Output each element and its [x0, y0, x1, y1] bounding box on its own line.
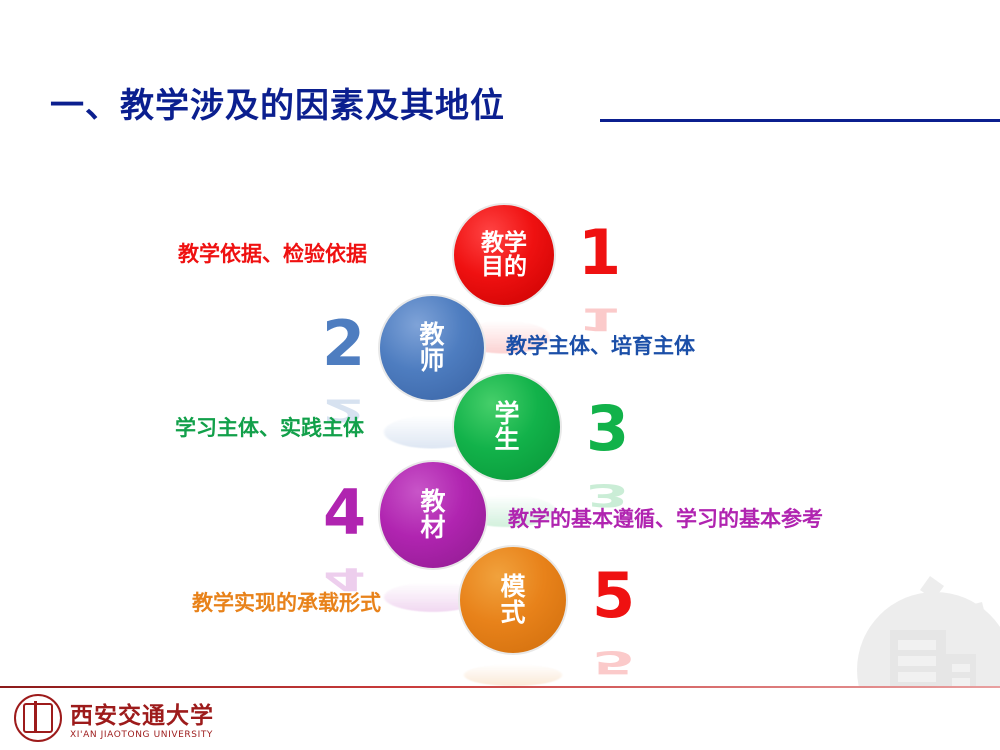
slide: 一、教学涉及的因素及其地位 1 2 3 4 5 1 2 3 4 5 教学 目的 …: [0, 0, 1000, 750]
number-4: 4: [323, 482, 366, 544]
number-5: 5: [592, 565, 635, 627]
bubble-4-line-2: 材: [420, 515, 445, 541]
university-name-en: XI'AN JIAOTONG UNIVERSITY: [70, 730, 214, 740]
bubble-textbook[interactable]: 教 材: [378, 460, 488, 570]
bubble-5-line-2: 式: [500, 600, 525, 626]
bubble-2-line-1: 教: [419, 322, 444, 348]
bubble-3-line-2: 生: [494, 427, 519, 453]
bubble-teaching-purpose[interactable]: 教学 目的: [452, 203, 556, 307]
bubble-1-line-1: 教学: [481, 231, 527, 255]
number-1: 1: [578, 222, 621, 284]
bubble-5-line-1: 模: [500, 574, 525, 600]
number-2: 2: [322, 313, 365, 375]
university-seal-icon: [14, 694, 62, 742]
number-reflection-5: 5: [592, 647, 635, 678]
bubble-2-line-2: 师: [419, 348, 444, 374]
bubble-mode[interactable]: 模 式: [458, 545, 568, 655]
university-logo: 西安交通大学 XI'AN JIAOTONG UNIVERSITY: [14, 694, 214, 742]
bubble-student[interactable]: 学 生: [452, 372, 562, 482]
title-underline: [600, 119, 1000, 122]
university-logo-text: 西安交通大学 XI'AN JIAOTONG UNIVERSITY: [70, 696, 214, 740]
number-3: 3: [586, 398, 629, 460]
university-name-cn: 西安交通大学: [70, 696, 214, 730]
label-textbook: 教学的基本遵循、学习的基本参考: [508, 503, 823, 533]
label-mode: 教学实现的承载形式: [192, 587, 381, 617]
bubble-reflection-5: [464, 664, 562, 686]
bubble-4-line-1: 教: [420, 489, 445, 515]
label-student: 学习主体、实践主体: [175, 412, 364, 442]
label-teacher: 教学主体、培育主体: [506, 330, 695, 360]
page-title: 一、教学涉及的因素及其地位: [50, 78, 505, 127]
label-teaching-purpose: 教学依据、检验依据: [178, 238, 367, 268]
bubble-1-line-2: 目的: [481, 255, 527, 279]
bubble-3-line-1: 学: [494, 401, 519, 427]
